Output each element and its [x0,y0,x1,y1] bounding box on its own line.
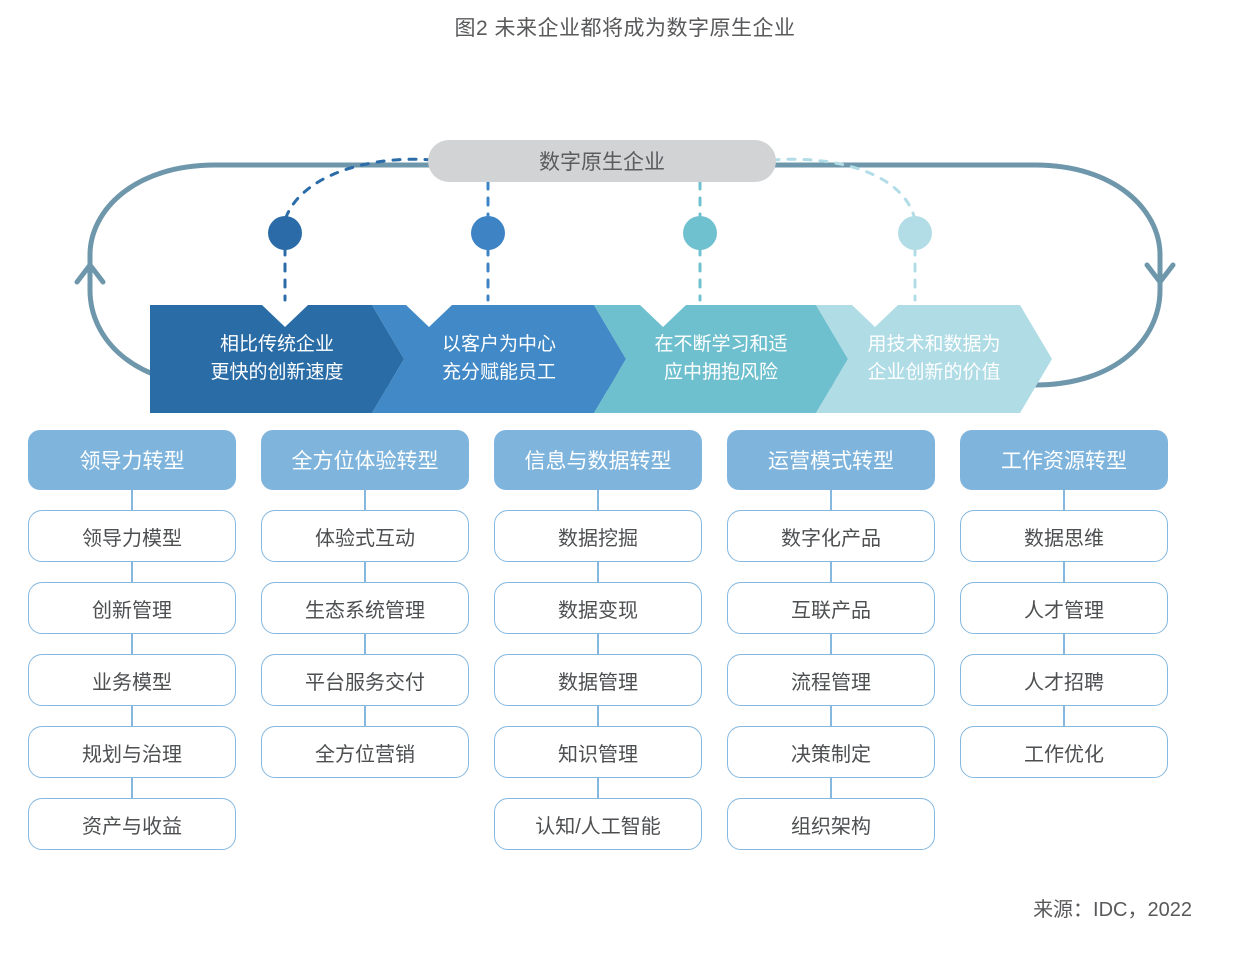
list-item[interactable]: 组织架构 [727,798,935,850]
chevron-1[interactable]: 相比传统企业 更快的创新速度 [150,305,404,413]
column-header-label: 运营模式转型 [768,445,894,475]
column-information-data: 信息与数据转型 数据挖掘 数据变现 数据管理 知识管理 认知/人工智能 [494,430,702,850]
list-item-label: 知识管理 [558,738,638,767]
chevron-3[interactable]: 在不断学习和适 应中拥抱风险 [594,305,848,413]
column-leadership: 领导力转型 领导力模型 创新管理 业务模型 规划与治理 资产与收益 [28,430,236,850]
list-item[interactable]: 体验式互动 [261,510,469,562]
list-item-label: 体验式互动 [315,522,415,551]
column-header[interactable]: 信息与数据转型 [494,430,702,490]
list-item[interactable]: 工作优化 [960,726,1168,778]
list-item-label: 资产与收益 [82,810,182,839]
list-item[interactable]: 平台服务交付 [261,654,469,706]
list-item-label: 全方位营销 [315,738,415,767]
column-header-label: 工作资源转型 [1001,445,1127,475]
chevron-3-label: 在不断学习和适 应中拥抱风险 [654,331,787,386]
chevron-1-label: 相比传统企业 更快的创新速度 [210,331,343,386]
list-item-label: 人才管理 [1024,594,1104,623]
list-item[interactable]: 决策制定 [727,726,935,778]
list-item-label: 业务模型 [92,666,172,695]
list-item[interactable]: 人才招聘 [960,654,1168,706]
list-item[interactable]: 数据思维 [960,510,1168,562]
list-item-label: 数据挖掘 [558,522,638,551]
chevron-4-label: 用技术和数据为 企业创新的价值 [867,331,1000,386]
list-item-label: 流程管理 [791,666,871,695]
list-item-label: 人才招聘 [1024,666,1104,695]
column-header[interactable]: 全方位体验转型 [261,430,469,490]
digital-native-pill[interactable]: 数字原生企业 [428,140,776,182]
list-item-label: 工作优化 [1024,738,1104,767]
list-item-label: 平台服务交付 [305,666,425,695]
column-header-label: 全方位体验转型 [292,445,439,475]
list-item-label: 数字化产品 [781,522,881,551]
list-item[interactable]: 资产与收益 [28,798,236,850]
list-item-label: 组织架构 [791,810,871,839]
list-item[interactable]: 生态系统管理 [261,582,469,634]
column-operating-model: 运营模式转型 数字化产品 互联产品 流程管理 决策制定 组织架构 [727,430,935,850]
column-header-label: 领导力转型 [80,445,185,475]
cycle-diagram: 数字原生企业 相比传统企业 更快的创新速度 以客户为中心 充分赋能员工 在不断学… [0,60,1250,420]
column-header-label: 信息与数据转型 [525,445,672,475]
digital-native-pill-label: 数字原生企业 [539,146,665,176]
list-item-label: 认知/人工智能 [535,810,661,839]
list-item[interactable]: 业务模型 [28,654,236,706]
list-item-label: 领导力模型 [82,522,182,551]
list-item[interactable]: 数据挖掘 [494,510,702,562]
list-item-label: 生态系统管理 [305,594,425,623]
column-header[interactable]: 领导力转型 [28,430,236,490]
column-header[interactable]: 运营模式转型 [727,430,935,490]
list-item[interactable]: 知识管理 [494,726,702,778]
list-item-label: 互联产品 [791,594,871,623]
list-item[interactable]: 人才管理 [960,582,1168,634]
list-item[interactable]: 互联产品 [727,582,935,634]
list-item[interactable]: 数字化产品 [727,510,935,562]
milestone-dot-3[interactable] [683,216,717,250]
list-item-label: 数据思维 [1024,522,1104,551]
list-item[interactable]: 数据变现 [494,582,702,634]
list-item-label: 决策制定 [791,738,871,767]
milestone-dot-1[interactable] [268,216,302,250]
list-item[interactable]: 领导力模型 [28,510,236,562]
list-item[interactable]: 流程管理 [727,654,935,706]
page-title: 图2 未来企业都将成为数字原生企业 [0,12,1250,42]
milestone-dot-2[interactable] [471,216,505,250]
dashed-arc-right [772,159,915,220]
chevron-2-label: 以客户为中心 充分赋能员工 [442,331,556,386]
transformation-columns: 领导力转型 领导力模型 创新管理 业务模型 规划与治理 资产与收益 全方位体验转… [0,430,1250,880]
list-item-label: 规划与治理 [82,738,182,767]
list-item[interactable]: 创新管理 [28,582,236,634]
list-item[interactable]: 全方位营销 [261,726,469,778]
milestone-dot-4[interactable] [898,216,932,250]
chevron-band: 相比传统企业 更快的创新速度 以客户为中心 充分赋能员工 在不断学习和适 应中拥… [150,305,1052,413]
list-item[interactable]: 认知/人工智能 [494,798,702,850]
dashed-arc-left [285,159,432,220]
list-item-label: 创新管理 [92,594,172,623]
chevron-2[interactable]: 以客户为中心 充分赋能员工 [372,305,626,413]
column-worksource: 工作资源转型 数据思维 人才管理 人才招聘 工作优化 [960,430,1168,778]
list-item[interactable]: 数据管理 [494,654,702,706]
column-experience: 全方位体验转型 体验式互动 生态系统管理 平台服务交付 全方位营销 [261,430,469,778]
list-item[interactable]: 规划与治理 [28,726,236,778]
list-item-label: 数据变现 [558,594,638,623]
source-note: 来源：IDC，2022 [1033,893,1192,922]
column-header[interactable]: 工作资源转型 [960,430,1168,490]
chevron-4[interactable]: 用技术和数据为 企业创新的价值 [816,305,1052,413]
list-item-label: 数据管理 [558,666,638,695]
